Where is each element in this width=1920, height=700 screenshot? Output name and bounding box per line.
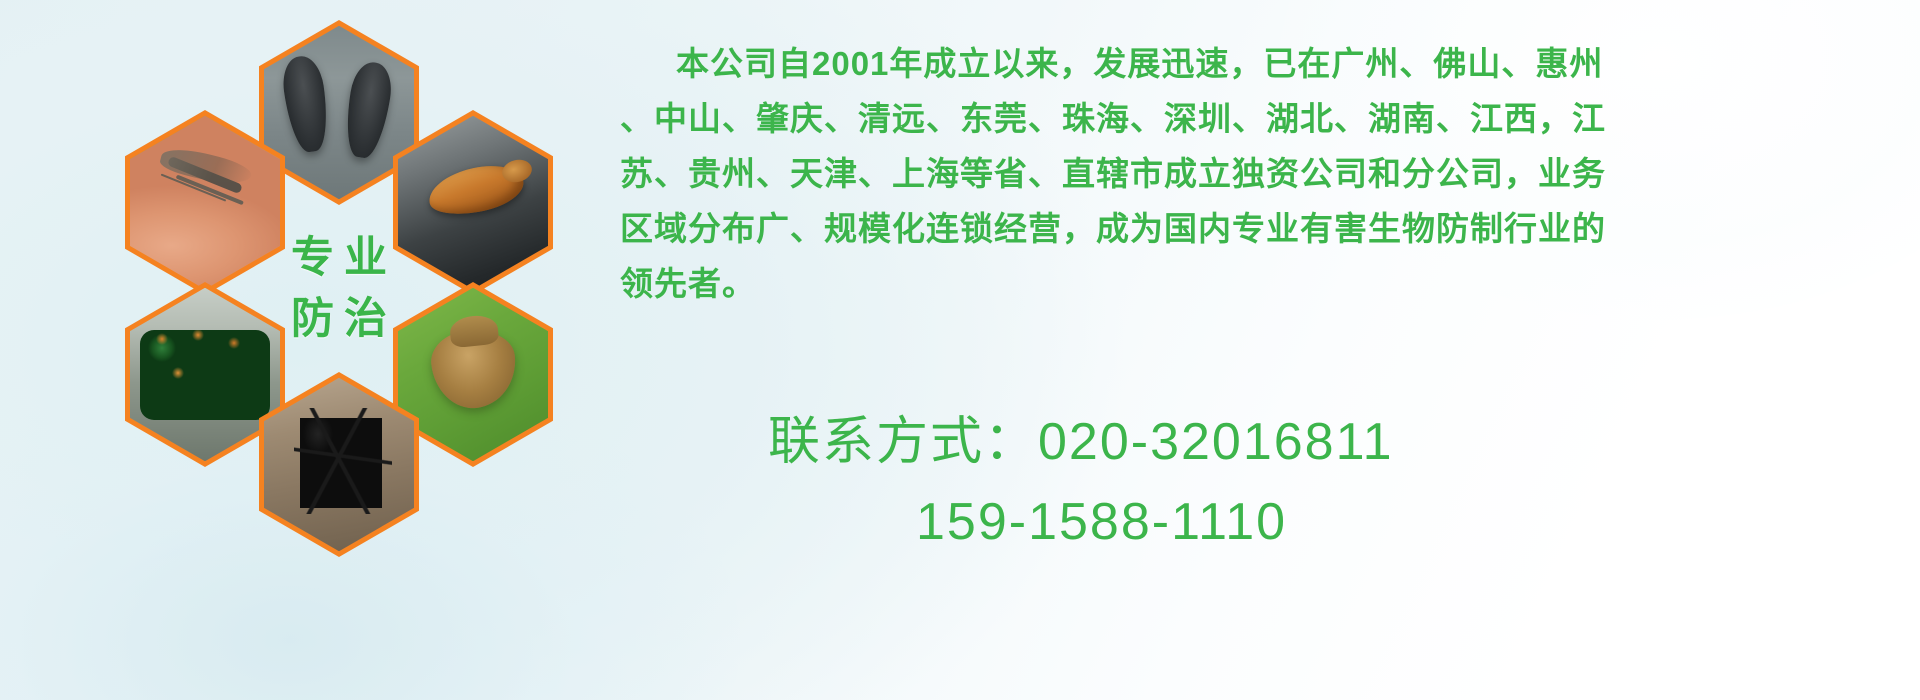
stink-bug-image [398,288,548,461]
hex-photo-cockroach-inner [398,116,548,289]
black-ant-image [264,378,414,551]
description-line-5: 领先者。 [620,256,1890,311]
green-flies-image [130,288,280,461]
cockroach-image [398,116,548,289]
contact-phone-primary[interactable]: 联系方式：020-32016811 [768,402,1868,482]
mosquito-image [130,116,280,289]
company-description: 本公司自2001年成立以来，发展迅速，已在广州、佛山、惠州 、中山、肇庆、清远、… [620,36,1890,311]
contact-info: 联系方式：020-32016811 159-1588-1110 [768,402,1868,562]
honeycomb-center-label: 专业 防治 [259,196,419,381]
honeycomb-photo-cluster: 专业 防治 [85,10,585,570]
promo-banner: 专业 防治 本公司自2001年成立以来，发展迅速，已在广州、佛山、惠州 、中山、… [0,0,1920,700]
hex-photo-mosquito-inner [130,116,280,289]
dark-insects-image [264,26,414,199]
center-label-line-1: 专业 [281,233,397,284]
description-line-3: 苏、贵州、天津、上海等省、直辖市成立独资公司和分公司，业务 [620,146,1890,201]
description-line-4: 区域分布广、规模化连锁经营，成为国内专业有害生物防制行业的 [620,201,1890,256]
hex-photo-dark-insects-inner [264,26,414,199]
description-line-1: 本公司自2001年成立以来，发展迅速，已在广州、佛山、惠州 [620,36,1890,91]
hex-photo-black-ant-inner [264,378,414,551]
description-line-2: 、中山、肇庆、清远、东莞、珠海、深圳、湖北、湖南、江西，江 [620,91,1890,146]
hex-photo-stink-bug-inner [398,288,548,461]
center-label-line-2: 防治 [281,294,397,345]
hex-photo-green-flies-inner [130,288,280,461]
contact-phone-secondary[interactable]: 159-1588-1110 [768,482,1868,562]
